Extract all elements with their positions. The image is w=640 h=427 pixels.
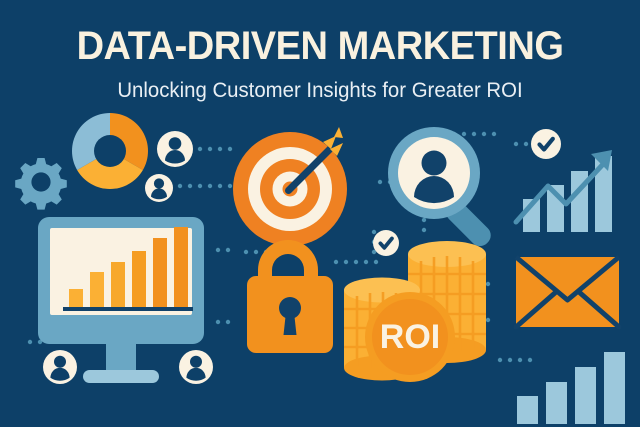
bar (174, 227, 188, 308)
chart-baseline (63, 307, 193, 311)
bar (111, 262, 125, 308)
monitor-stand-neck (106, 344, 136, 374)
page-subtitle: Unlocking Customer Insights for Greater … (10, 66, 631, 101)
poster-header: DATA-DRIVEN MARKETING Unlocking Customer… (0, 0, 640, 101)
growth-chart-arrow-icon (516, 150, 612, 232)
bar (604, 352, 625, 424)
target-bullseye-icon (233, 127, 347, 246)
user-avatar-small-icon (145, 174, 173, 202)
illustration-area: ROI (0, 104, 640, 427)
bar (90, 272, 104, 308)
magnifier-person-icon (388, 127, 495, 250)
user-avatar-icon (157, 131, 193, 167)
donut-chart-icon (72, 113, 148, 189)
check-badge-icon (531, 129, 561, 159)
roi-coin-label: ROI (380, 318, 440, 356)
bar (69, 289, 83, 308)
monitor-stand-base (83, 370, 159, 383)
bar-chart-small-icon (517, 352, 625, 424)
check-badge-icon (373, 230, 399, 256)
padlock-icon (247, 240, 333, 353)
envelope-icon (516, 257, 619, 327)
bar (575, 367, 596, 424)
bar (546, 382, 567, 424)
page-title: DATA-DRIVEN MARKETING (16, 0, 624, 66)
roi-coin: ROI (365, 292, 455, 382)
bar (132, 251, 146, 308)
bar (153, 238, 167, 308)
user-avatar-small-icon (43, 350, 77, 384)
poster-canvas: DATA-DRIVEN MARKETING Unlocking Customer… (0, 0, 640, 427)
user-avatar-small-icon (179, 350, 213, 384)
gear-icon (15, 158, 67, 210)
bar (517, 396, 538, 424)
